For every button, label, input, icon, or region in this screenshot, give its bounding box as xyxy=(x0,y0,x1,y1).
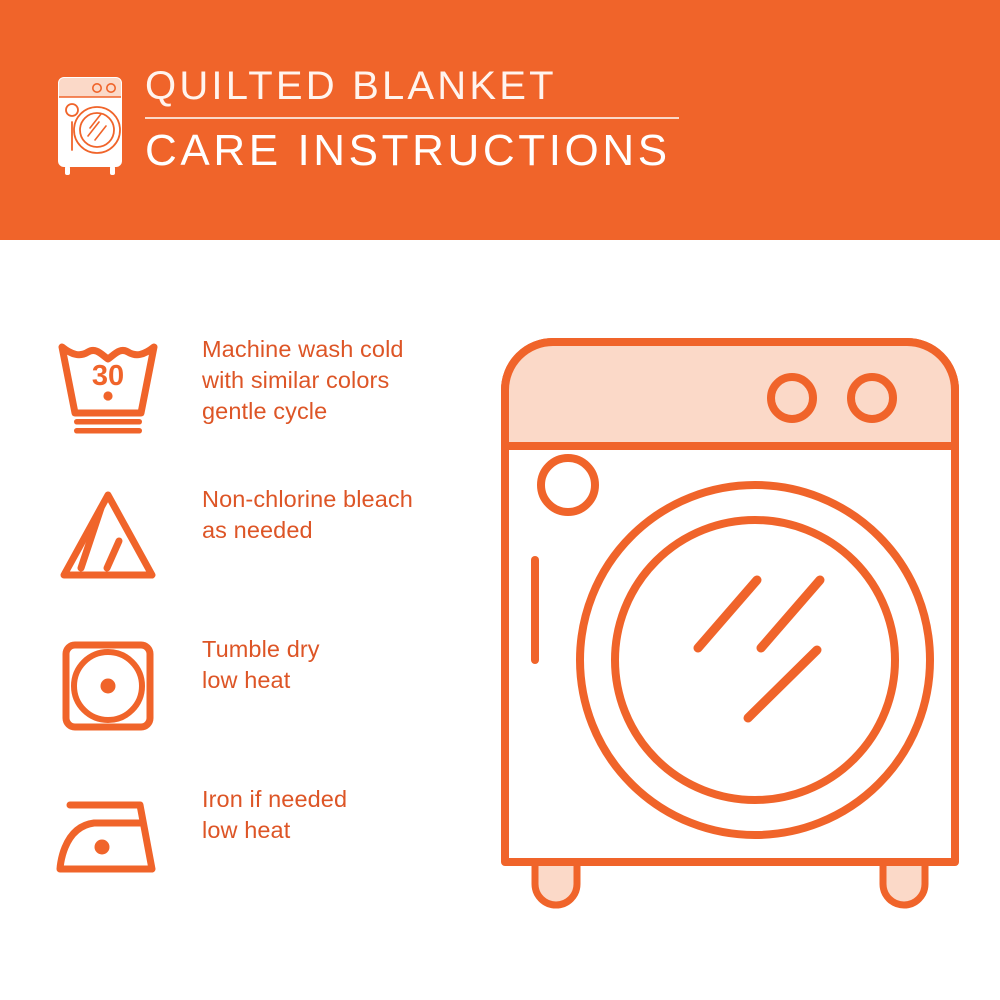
care-text-line: Tumble dry xyxy=(202,634,492,665)
title-divider xyxy=(145,117,679,119)
care-text-tumble-dry: Tumble dry low heat xyxy=(202,634,492,696)
care-text-line: gentle cycle xyxy=(202,396,492,427)
care-row-wash: 30 Machine wash cold with similar colors… xyxy=(0,330,500,480)
wash-temperature-label: 30 xyxy=(92,360,124,392)
care-text-line: with similar colors xyxy=(202,365,492,396)
care-text-line: low heat xyxy=(202,815,492,846)
machine-control-panel xyxy=(505,342,955,446)
header-title-group: QUILTED BLANKET CARE INSTRUCTIONS xyxy=(145,62,705,177)
care-text-wash: Machine wash cold with similar colors ge… xyxy=(202,334,492,427)
care-row-tumble-dry: Tumble dry low heat xyxy=(0,630,500,780)
care-row-bleach: Non-chlorine bleach as needed xyxy=(0,480,500,630)
care-text-line: low heat xyxy=(202,665,492,696)
header-banner: QUILTED BLANKET CARE INSTRUCTIONS xyxy=(0,0,1000,240)
care-row-iron: Iron if needed low heat xyxy=(0,780,500,930)
care-text-line: Iron if needed xyxy=(202,784,492,815)
care-text-iron: Iron if needed low heat xyxy=(202,784,492,846)
iron-icon xyxy=(48,780,168,890)
care-instruction-list: 30 Machine wash cold with similar colors… xyxy=(0,330,500,930)
care-text-line: as needed xyxy=(202,515,492,546)
bleach-triangle-icon xyxy=(48,480,168,590)
care-text-line: Non-chlorine bleach xyxy=(202,484,492,515)
washing-machine-illustration xyxy=(495,330,965,930)
washing-machine-icon xyxy=(45,68,145,178)
page-title-secondary: CARE INSTRUCTIONS xyxy=(145,125,705,177)
tumble-dry-icon xyxy=(48,630,168,740)
care-text-line: Machine wash cold xyxy=(202,334,492,365)
page-title-primary: QUILTED BLANKET xyxy=(145,62,705,110)
care-text-bleach: Non-chlorine bleach as needed xyxy=(202,484,492,546)
wash-basin-30-icon: 30 xyxy=(48,330,168,440)
